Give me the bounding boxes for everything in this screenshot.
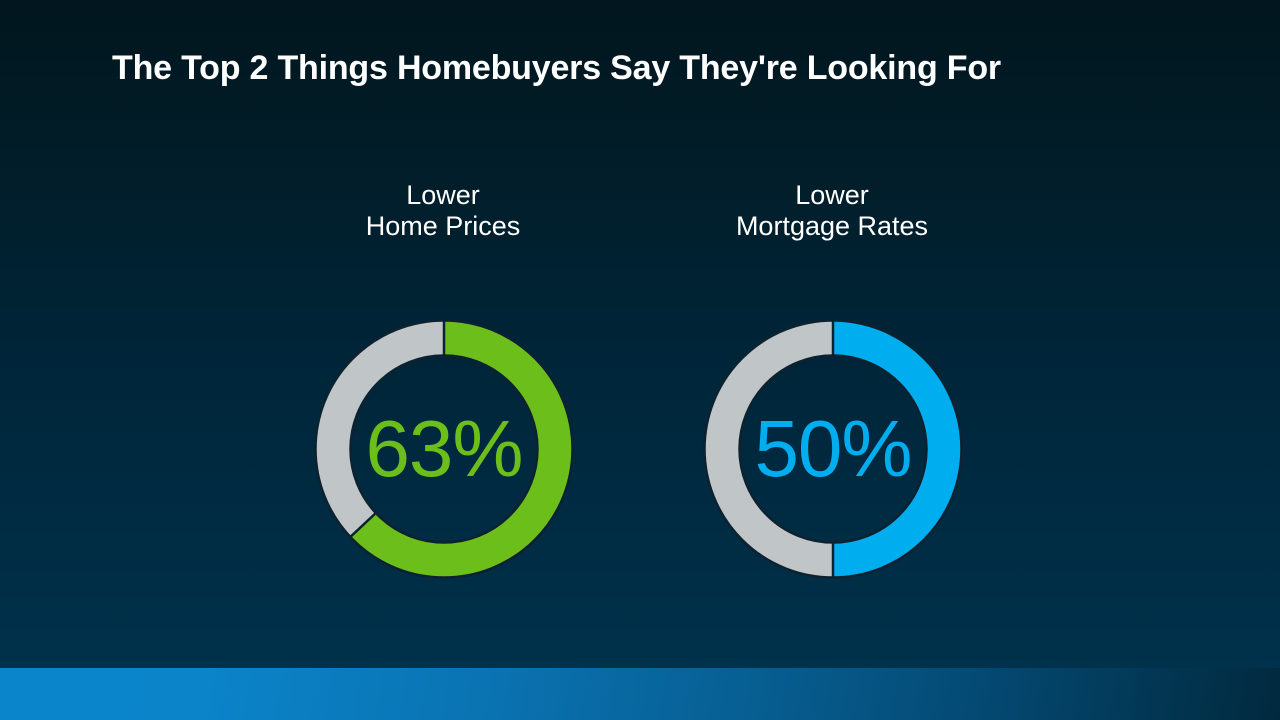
donut-value-text-mortgage-rates: 50% <box>697 313 969 585</box>
donut-label-line1: Lower <box>233 180 653 211</box>
donut-label-line1: Lower <box>622 180 1042 211</box>
donut-chart-mortgage-rates: Lower Mortgage Rates 50% <box>622 180 1042 620</box>
donut-graphic-home-prices: 63% <box>308 313 580 585</box>
charts-container: Lower Home Prices 63% <box>0 180 1280 620</box>
donut-value-text-home-prices: 63% <box>308 313 580 585</box>
donut-label-home-prices: Lower Home Prices <box>233 180 653 242</box>
donut-label-line2: Home Prices <box>233 211 653 242</box>
donut-label-mortgage-rates: Lower Mortgage Rates <box>622 180 1042 242</box>
slide-canvas: The Top 2 Things Homebuyers Say They're … <box>0 0 1280 720</box>
page-title: The Top 2 Things Homebuyers Say They're … <box>112 46 1172 90</box>
donut-label-line2: Mortgage Rates <box>622 211 1042 242</box>
donut-chart-home-prices: Lower Home Prices 63% <box>233 180 653 620</box>
donut-graphic-mortgage-rates: 50% <box>697 313 969 585</box>
footer-bar: Keeping Current Matters Source: Bank of … <box>0 668 1280 720</box>
